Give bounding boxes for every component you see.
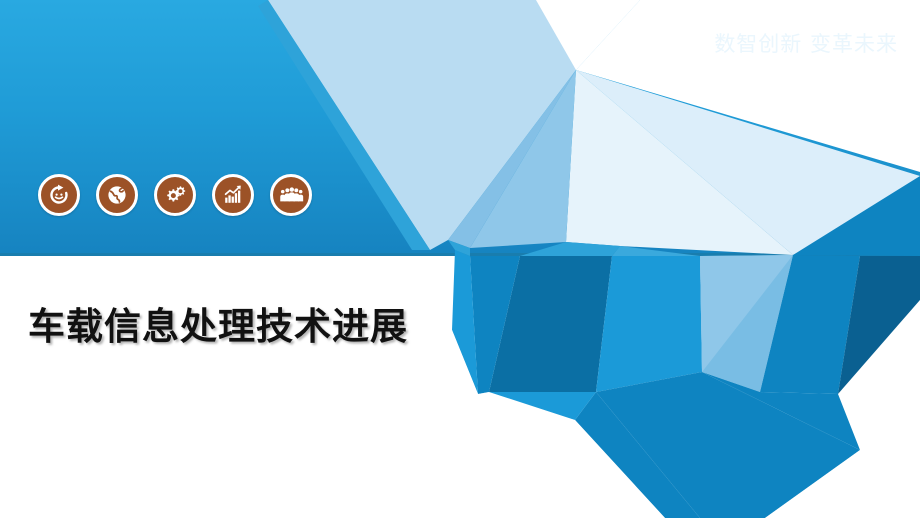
people-group-icon[interactable] <box>270 174 312 216</box>
page-title: 车载信息处理技术进展 <box>28 296 408 350</box>
low-poly-decoration <box>0 0 920 518</box>
bar-chart-icon[interactable] <box>212 174 254 216</box>
tagline: 数智创新 变革未来 <box>714 28 898 58</box>
recycle-arrow-icon[interactable] <box>38 174 80 216</box>
globe-icon[interactable] <box>96 174 138 216</box>
icon-row <box>38 174 312 216</box>
title-slide: 数智创新 变革未来 <box>0 0 920 518</box>
gears-icon[interactable] <box>154 174 196 216</box>
